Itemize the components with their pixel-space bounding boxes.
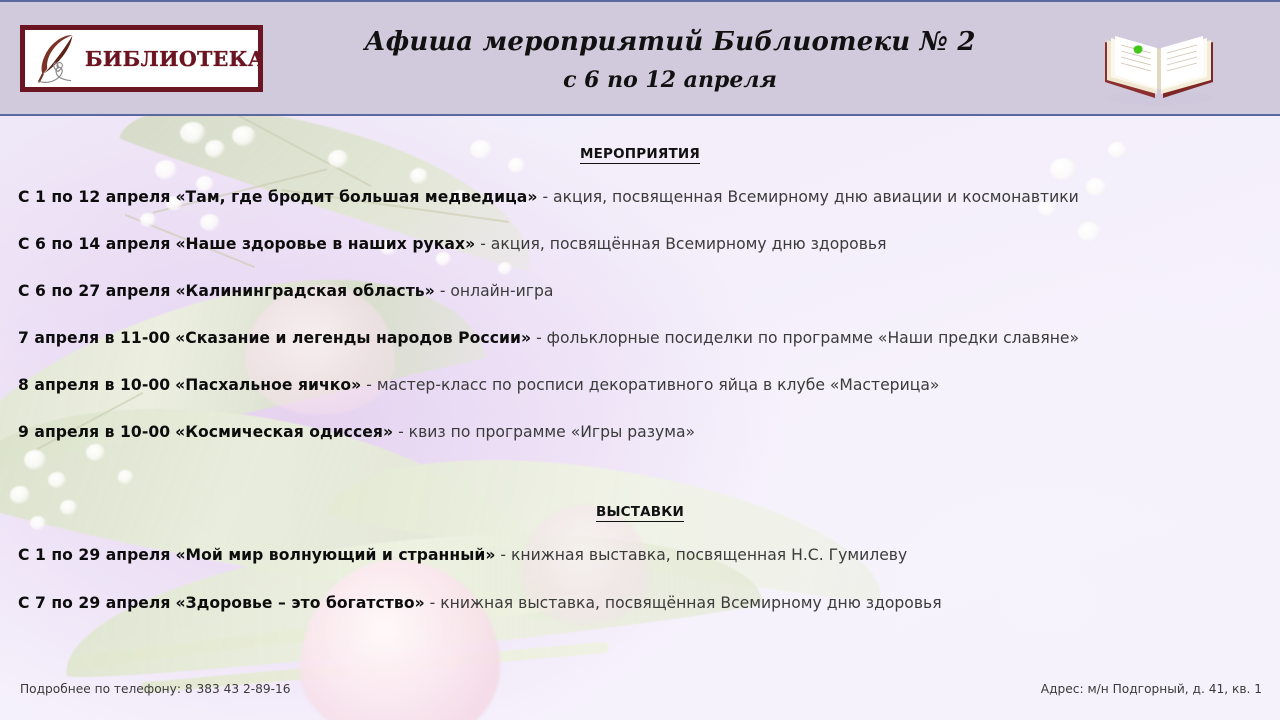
event-description: - онлайн-игра xyxy=(440,282,554,300)
footer-address: Адрес: м/н Подгорный, д. 41, кв. 1 xyxy=(1041,682,1262,696)
exhibition-description: - книжная выставка, посвящённая Всемирно… xyxy=(430,594,942,612)
event-title: «Сказание и легенды народов России» xyxy=(175,329,531,347)
event-row: 7 апреля в 11-00 «Сказание и легенды нар… xyxy=(18,329,1079,348)
footer-phone: Подробнее по телефону: 8 383 43 2-89-16 xyxy=(20,682,291,696)
exhibition-row: С 1 по 29 апреля «Мой мир волнующий и ст… xyxy=(18,546,907,565)
event-row: С 6 по 14 апреля «Наше здоровье в наших … xyxy=(18,235,886,254)
exhibition-description: - книжная выставка, посвященная Н.С. Гум… xyxy=(500,546,907,564)
exhibition-row: С 7 по 29 апреля «Здоровье – это богатст… xyxy=(18,594,942,613)
event-row: С 1 по 12 апреля «Там, где бродит больша… xyxy=(18,188,1079,207)
poster-root: БИБЛИОТЕКА № 2 Афиша мероприятий Библиот… xyxy=(0,0,1280,720)
event-title: «Космическая одиссея» xyxy=(175,423,393,441)
exhibition-date: С 1 по 29 апреля xyxy=(18,546,170,564)
exhibition-title: «Мой мир волнующий и странный» xyxy=(175,546,495,564)
event-date: 7 апреля в 11-00 xyxy=(18,329,170,347)
section-heading-events-label: МЕРОПРИЯТИЯ xyxy=(580,146,700,164)
event-date: 9 апреля в 10-00 xyxy=(18,423,170,441)
event-date: С 6 по 14 апреля xyxy=(18,235,170,253)
exhibition-date: С 7 по 29 апреля xyxy=(18,594,170,612)
page-subtitle-date-range: с 6 по 12 апреля xyxy=(563,67,777,93)
event-row: 8 апреля в 10-00 «Пасхальное яичко» - ма… xyxy=(18,376,939,395)
poster-content: МЕРОПРИЯТИЯ С 1 по 12 апреля «Там, где б… xyxy=(0,116,1280,720)
poster-header: БИБЛИОТЕКА № 2 Афиша мероприятий Библиот… xyxy=(0,0,1280,116)
exhibition-title: «Здоровье – это богатство» xyxy=(175,594,424,612)
event-title: «Калининградская область» xyxy=(175,282,434,300)
page-title: Афиша мероприятий Библиотеки № 2 xyxy=(364,27,975,57)
event-row: 9 апреля в 10-00 «Космическая одиссея» -… xyxy=(18,423,695,442)
event-row: С 6 по 27 апреля «Калининградская област… xyxy=(18,282,553,301)
section-heading-exhibitions-label: ВЫСТАВКИ xyxy=(596,504,684,522)
event-date: С 6 по 27 апреля xyxy=(18,282,170,300)
event-description: - акция, посвящённая Всемирному дню здор… xyxy=(480,235,886,253)
open-book-icon xyxy=(1097,18,1222,106)
section-heading-exhibitions: ВЫСТАВКИ xyxy=(0,504,1280,520)
event-description: - фольклорные посиделки по программе «На… xyxy=(536,329,1079,347)
event-description: - мастер-класс по росписи декоративного … xyxy=(366,376,939,394)
quill-pen-icon xyxy=(31,31,85,87)
poster-title-block: Афиша мероприятий Библиотеки № 2 с 6 по … xyxy=(290,2,1050,118)
event-description: - акция, посвященная Всемирному дню авиа… xyxy=(542,188,1078,206)
event-title: «Там, где бродит большая медведица» xyxy=(175,188,537,206)
event-title: «Пасхальное яичко» xyxy=(175,376,361,394)
event-description: - квиз по программе «Игры разума» xyxy=(398,423,695,441)
event-title: «Наше здоровье в наших руках» xyxy=(175,235,475,253)
library-logo: БИБЛИОТЕКА № 2 xyxy=(20,25,263,92)
section-heading-events: МЕРОПРИЯТИЯ xyxy=(0,146,1280,162)
event-date: 8 апреля в 10-00 xyxy=(18,376,170,394)
logo-label: БИБЛИОТЕКА № 2 xyxy=(85,47,263,71)
event-date: С 1 по 12 апреля xyxy=(18,188,170,206)
